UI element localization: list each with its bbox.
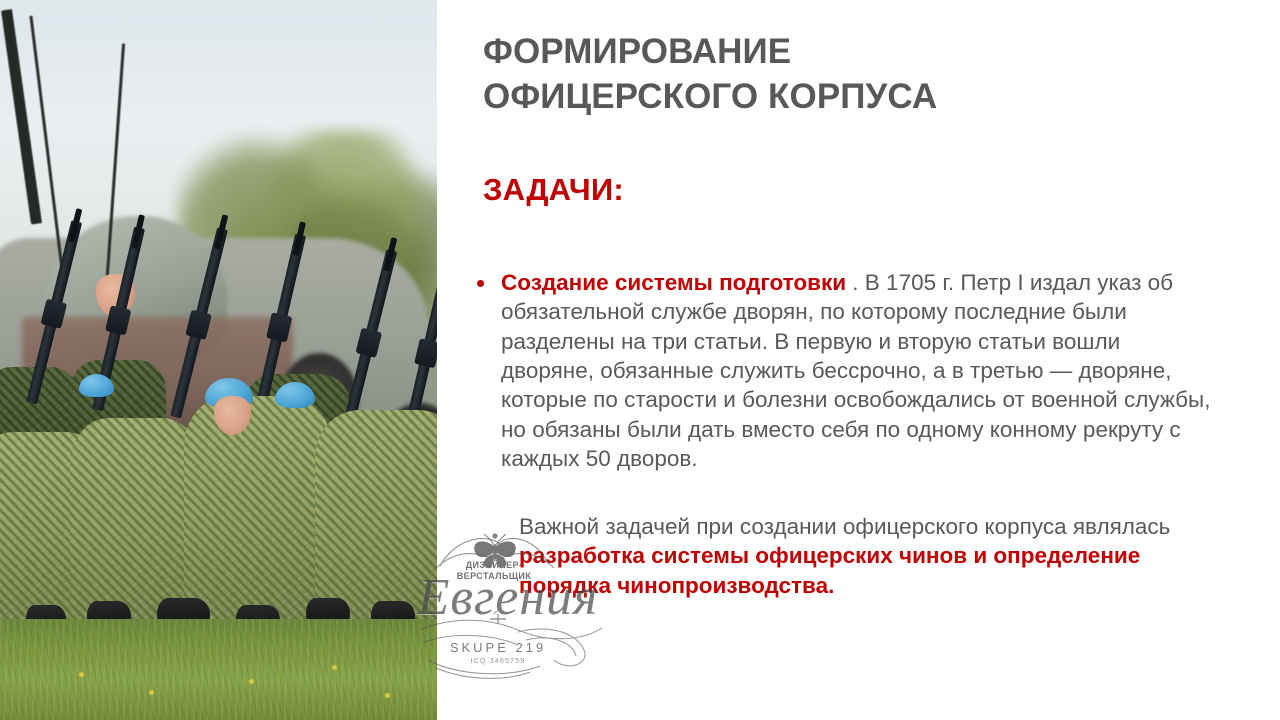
- secondary-paragraph-lead: Важной задачей при создании офицерского …: [519, 514, 1170, 539]
- list-item: Создание системы подготовки . В 1705 г. …: [477, 268, 1219, 474]
- secondary-paragraph: Важной задачей при создании офицерского …: [519, 512, 1219, 600]
- photo-soldier: [315, 410, 437, 626]
- page-title: ФОРМИРОВАНИЕ ОФИЦЕРСКОГО КОРПУСА: [483, 30, 1253, 120]
- photo-flower: [149, 690, 154, 695]
- photo-flower: [332, 665, 337, 670]
- bullet-paragraph: Создание системы подготовки . В 1705 г. …: [501, 268, 1219, 474]
- photo-soldier: [70, 418, 201, 627]
- section-subtitle: ЗАДАЧИ:: [483, 172, 624, 208]
- slide-content: ФОРМИРОВАНИЕ ОФИЦЕРСКОГО КОРПУСА ЗАДАЧИ:…: [437, 0, 1280, 720]
- page-title-line-1: ФОРМИРОВАНИЕ: [483, 30, 1253, 75]
- photo-flower: [79, 672, 84, 677]
- bullet-body-text: . В 1705 г. Петр I издал указ об обязате…: [501, 270, 1210, 471]
- page-title-line-2: ОФИЦЕРСКОГО КОРПУСА: [483, 75, 1253, 120]
- bullet-lead-emphasis: Создание системы подготовки: [501, 270, 846, 295]
- secondary-paragraph-emphasis: разработка системы офицерских чинов и оп…: [519, 543, 1140, 597]
- photo-blue-beret: [79, 374, 114, 397]
- photo-soldier-front: [184, 396, 333, 626]
- bullet-list: Создание системы подготовки . В 1705 г. …: [477, 268, 1219, 474]
- presentation-slide: ФОРМИРОВАНИЕ ОФИЦЕРСКОГО КОРПУСА ЗАДАЧИ:…: [0, 0, 1280, 720]
- military-photo: [0, 0, 437, 720]
- photo-grass-texture: [0, 619, 437, 720]
- bullet-dot-icon: [477, 268, 501, 287]
